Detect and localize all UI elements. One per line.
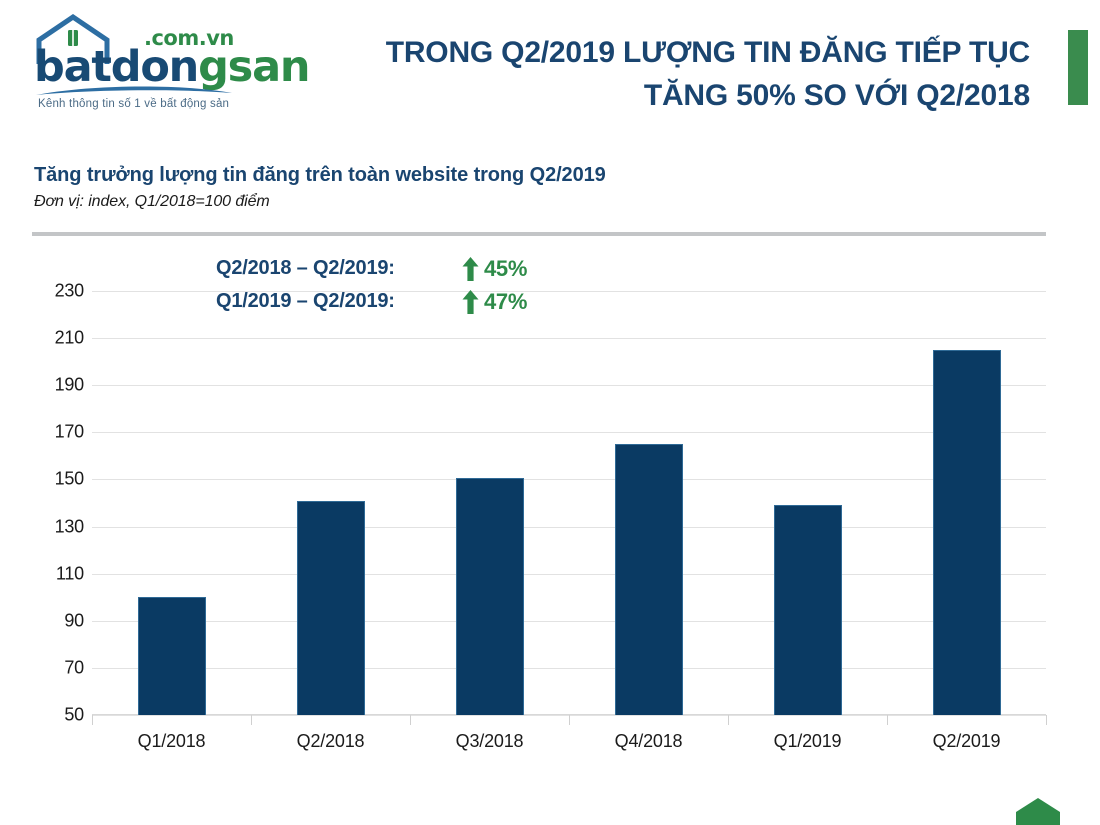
x-axis-tick-mark (92, 715, 93, 725)
growth-annotation-value: 47% (484, 289, 527, 315)
footer-house-mark-icon (1012, 796, 1064, 825)
x-axis-tick-mark (887, 715, 888, 725)
bar-slot (887, 291, 1046, 715)
growth-annotation-row: Q1/2019 – Q2/2019:47% (216, 285, 646, 318)
subtitle-block: Tăng trưởng lượng tin đăng trên toàn web… (34, 163, 1074, 211)
bar-series (92, 291, 1046, 715)
x-axis-tick-label: Q1/2018 (92, 715, 251, 752)
gridline (92, 338, 1046, 339)
bar-slot (728, 291, 887, 715)
bar-slot (251, 291, 410, 715)
x-axis-tick-label: Q1/2019 (728, 715, 887, 752)
bar-slot (569, 291, 728, 715)
page-title-line-1: TRONG Q2/2019 LƯỢNG TIN ĐĂNG TIẾP TỤC (340, 32, 1030, 75)
bar-Q1-2018[interactable] (138, 597, 206, 715)
logo-tagline: Kênh thông tin số 1 về bất động sản (38, 98, 229, 110)
x-axis-tick-mark (569, 715, 570, 725)
gridline (92, 715, 1046, 716)
header: .com.vn batdongsan Kênh thông tin số 1 v… (0, 0, 1100, 135)
y-axis-tick-label: 170 (24, 422, 84, 443)
gridline (92, 668, 1046, 669)
bar-slot (92, 291, 251, 715)
gridline (92, 527, 1046, 528)
y-axis-tick-label: 210 (24, 328, 84, 349)
bar-Q2-2019[interactable] (933, 350, 1001, 715)
x-axis-tick-label: Q3/2018 (410, 715, 569, 752)
x-axis-tick-label: Q4/2018 (569, 715, 728, 752)
bar-Q4-2018[interactable] (615, 444, 683, 715)
x-axis-labels: Q1/2018Q2/2018Q3/2018Q4/2018Q1/2019Q2/20… (92, 715, 1046, 752)
x-axis-tick-label: Q2/2019 (887, 715, 1046, 752)
x-axis-tick-mark (1046, 715, 1047, 725)
x-axis-tick-mark (410, 715, 411, 725)
growth-annotations: Q2/2018 – Q2/2019:45%Q1/2019 – Q2/2019:4… (216, 252, 646, 318)
logo-wordmark-prefix: batdon (34, 42, 198, 92)
x-axis-tick-label: Q2/2018 (251, 715, 410, 752)
logo-wordmark: batdongsan (34, 46, 309, 89)
gridline (92, 479, 1046, 480)
y-axis-tick-label: 150 (24, 469, 84, 490)
y-axis-tick-label: 50 (24, 705, 84, 726)
bar-slot (410, 291, 569, 715)
gridline (92, 385, 1046, 386)
growth-annotation-label: Q1/2019 – Q2/2019: (216, 290, 456, 313)
x-axis-line (92, 714, 1046, 715)
bar-Q1-2019[interactable] (774, 505, 842, 715)
y-axis-tick-label: 230 (24, 281, 84, 302)
chart-unit-note: Đơn vị: index, Q1/2018=100 điểm (34, 193, 1074, 211)
page-title: TRONG Q2/2019 LƯỢNG TIN ĐĂNG TIẾP TỤC TĂ… (340, 32, 1030, 117)
slide-root: .com.vn batdongsan Kênh thông tin số 1 v… (0, 0, 1100, 825)
y-axis-tick-label: 90 (24, 610, 84, 631)
x-axis-tick-mark (251, 715, 252, 725)
arrow-up-icon (456, 257, 484, 281)
y-axis-tick-label: 130 (24, 516, 84, 537)
y-axis-tick-label: 70 (24, 657, 84, 678)
y-axis-tick-label: 190 (24, 375, 84, 396)
arrow-up-icon (456, 290, 484, 314)
page-title-line-2: TĂNG 50% SO VỚI Q2/2018 (340, 75, 1030, 118)
gridline (92, 621, 1046, 622)
logo-wordmark-suffix: gsan (198, 42, 309, 92)
chart-title: Tăng trưởng lượng tin đăng trên toàn web… (34, 163, 1074, 188)
header-accent-bar (1068, 30, 1088, 105)
header-divider (32, 232, 1046, 236)
growth-annotation-label: Q2/2018 – Q2/2019: (216, 257, 456, 280)
plot-area (92, 291, 1046, 715)
growth-annotation-value: 45% (484, 256, 527, 282)
swoosh-icon (34, 86, 234, 98)
bar-Q3-2018[interactable] (456, 478, 524, 715)
y-axis-tick-label: 110 (24, 563, 84, 584)
y-axis: 230210190170150130110907050 (0, 291, 1100, 715)
gridline (92, 432, 1046, 433)
gridline (92, 574, 1046, 575)
brand-logo[interactable]: .com.vn batdongsan Kênh thông tin số 1 v… (24, 8, 249, 120)
growth-annotation-row: Q2/2018 – Q2/2019:45% (216, 252, 646, 285)
x-axis-tick-mark (728, 715, 729, 725)
bar-Q2-2018[interactable] (297, 501, 365, 715)
